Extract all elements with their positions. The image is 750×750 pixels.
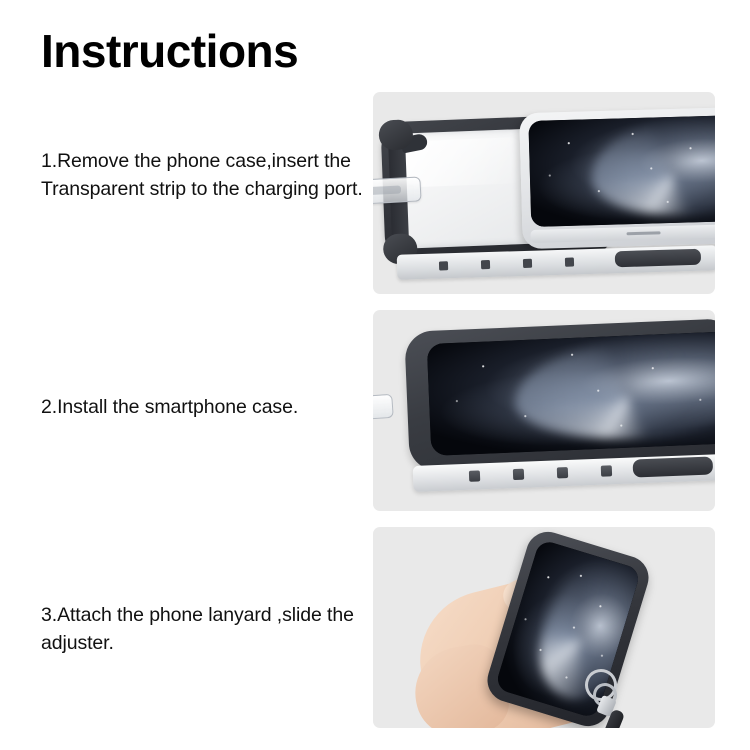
step-2-text: 2.Install the smartphone case.	[41, 394, 371, 422]
case-rail-peg	[523, 259, 532, 268]
phone-screen	[528, 115, 715, 227]
phone-screen	[427, 331, 715, 456]
case-rail-grip-block	[615, 249, 701, 268]
step-2-image-panel	[373, 310, 715, 511]
step-1-image-panel	[373, 92, 715, 294]
page-title: Instructions	[41, 27, 298, 75]
phone-bottom-band	[530, 224, 715, 243]
smartphone-body	[519, 107, 715, 249]
case-rail-peg	[469, 470, 480, 481]
step-3-image-panel	[373, 527, 715, 728]
step-3-scene	[373, 527, 715, 728]
step-1-scene	[373, 92, 715, 294]
transparent-charging-port-strip	[373, 394, 394, 420]
case-rail-grip-block	[633, 456, 714, 477]
step-1-text: 1.Remove the phone case,insert the Trans…	[41, 148, 371, 203]
wave-wallpaper	[528, 115, 715, 227]
case-rail-peg	[513, 469, 524, 480]
transparent-charging-port-strip	[373, 176, 422, 204]
cased-phone-body	[404, 318, 715, 472]
step-3-text: 3.Attach the phone lanyard ,slide the ad…	[41, 602, 371, 657]
case-rail-peg	[481, 260, 490, 269]
instructions-page: Instructions 1.Remove the phone case,ins…	[0, 0, 750, 750]
case-rail-peg	[557, 467, 568, 478]
case-rail-peg	[565, 257, 574, 266]
wave-wallpaper	[427, 331, 715, 456]
case-rail-peg	[439, 261, 448, 270]
case-rail-peg	[601, 465, 612, 476]
step-2-scene	[373, 310, 715, 511]
